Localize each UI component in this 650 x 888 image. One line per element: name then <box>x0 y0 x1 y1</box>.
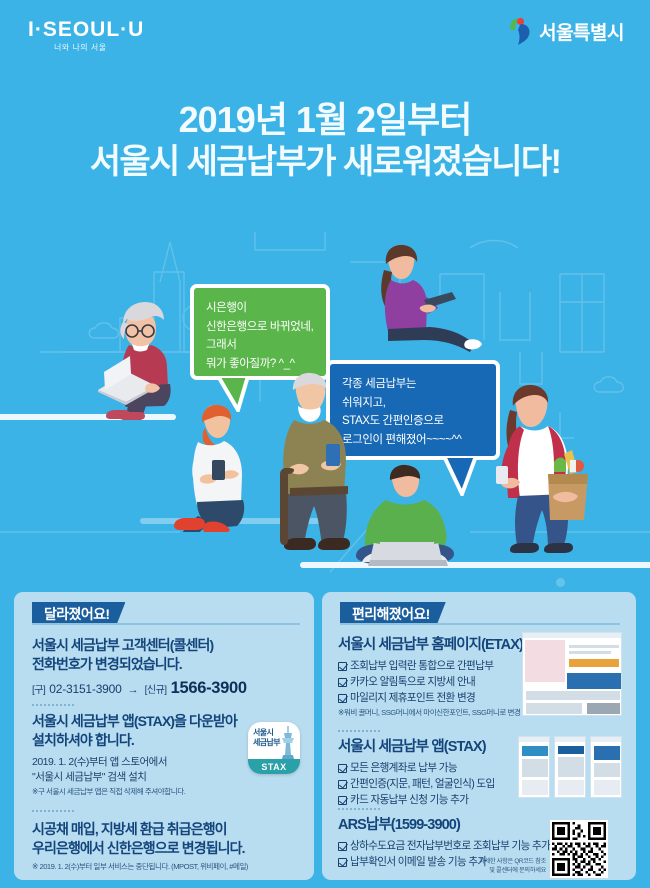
etax-item: 조회납부 입력란 통합으로 간편납부 <box>338 660 493 673</box>
stax-item: 카드 자동납부 신청 기능 추가 <box>338 794 468 807</box>
qr-code-graphic <box>552 822 606 876</box>
screenshot-iconbar <box>567 673 621 689</box>
stax-app-icon-label: 서울시 세금납부 <box>253 728 280 748</box>
check-icon <box>338 662 347 671</box>
poster-root: I·SEOUL·U 너와 나의 서울 서울특별시 2019년 1월 2일부터 서… <box>0 0 650 888</box>
screenshot-block <box>558 746 584 754</box>
screenshot-block <box>522 780 548 795</box>
callcenter-phone-row: [구] 02-3151-3900 → [신규] 1566-3900 <box>32 679 247 698</box>
illustration-stage: 시은행이 신한은행으로 바뀌었네, 그래서 뭐가 좋아질까? ^_^ 각종 세금… <box>0 232 650 590</box>
new-number-tag: [신규] <box>145 681 167 696</box>
check-icon <box>338 858 347 867</box>
person-woman-groceries <box>486 382 596 564</box>
stax-phone-screenshot <box>554 736 586 798</box>
seoul-emblem-icon <box>507 16 533 46</box>
person-man-laptop <box>348 464 466 572</box>
stax-item-label: 카드 자동납부 신청 기능 추가 <box>350 794 468 807</box>
stax-install-body: 2019. 1. 2(수)부터 앱 스토어에서 "서울시 세금납부" 검색 설치 <box>32 755 242 785</box>
etax-item: 마일리지 제휴포인트 전환 변경 <box>338 692 475 705</box>
person-man-phone <box>168 402 272 532</box>
divider <box>338 808 380 810</box>
old-number: 02-3151-3900 <box>49 682 121 696</box>
etax-item-label: 조회납부 입력란 통합으로 간편납부 <box>350 660 493 673</box>
i-seoul-u-logo: I·SEOUL·U <box>28 18 144 42</box>
etax-item-label: 카카오 알림톡으로 지방세 안내 <box>350 676 475 689</box>
info-panels: 달라졌어요! 서울시 세금납부 고객센터(콜센터) 전화번호가 변경되었습니다.… <box>0 592 650 888</box>
seoul-gov-logo: 서울특별시 <box>507 16 624 46</box>
divider <box>338 730 380 732</box>
bank-change-heading: 시공채 매입, 지방세 환급 취급은행이 우리은행에서 신한은행으로 변경됩니다… <box>32 820 304 858</box>
title-line-1: 2019년 1월 2일부터 <box>0 100 650 140</box>
stax-app-icon-band: STAX <box>248 759 300 774</box>
callcenter-heading: 서울시 세금납부 고객센터(콜센터) 전화번호가 변경되었습니다. <box>32 636 302 674</box>
stax-item-label: 간편인증(지문, 패턴, 얼굴인식) 도입 <box>350 778 495 791</box>
screenshot-block <box>558 757 584 777</box>
check-icon <box>338 694 347 703</box>
page-title: 2019년 1월 2일부터 서울시 세금납부가 새로워졌습니다! <box>0 100 650 185</box>
screenshot-block <box>558 780 584 795</box>
etax-website-screenshot <box>522 632 622 716</box>
ribbon-rule <box>32 623 300 625</box>
qr-note: 자세한 사항은 QR코드 참조 및 콜센터에 문의하세요 <box>442 858 546 876</box>
screenshot-block <box>594 780 620 795</box>
n-seoul-tower-icon <box>279 725 297 759</box>
stax-item-label: 모든 은행계좌로 납부 가능 <box>350 762 457 775</box>
poster-header: I·SEOUL·U 너와 나의 서울 서울특별시 <box>0 0 650 62</box>
stax-app-icon[interactable]: 서울시 세금납부 STAX <box>248 722 300 774</box>
panel-convenient-ribbon: 편리해졌어요! <box>340 602 446 625</box>
screenshot-topbar <box>591 737 621 742</box>
check-icon <box>338 842 347 851</box>
screenshot-footer <box>587 703 620 714</box>
ribbon-rule <box>340 623 620 625</box>
stax-item: 간편인증(지문, 패턴, 얼굴인식) 도입 <box>338 778 495 791</box>
new-number: 1566-3900 <box>171 679 247 698</box>
etax-item: 카카오 알림톡으로 지방세 안내 <box>338 676 475 689</box>
check-icon <box>338 780 347 789</box>
old-number-tag: [구] <box>32 681 45 696</box>
screenshot-block <box>594 763 620 777</box>
screenshot-footer <box>526 703 582 714</box>
title-line-2: 서울시 세금납부가 새로워졌습니다! <box>0 140 650 184</box>
divider <box>32 810 74 812</box>
arrow-icon: → <box>126 684 141 696</box>
bank-change-note: ※ 2019. 1. 2(수)부터 일부 서비스는 중단됩니다. (MPOST,… <box>32 862 310 873</box>
screenshot-search <box>569 659 619 667</box>
screenshot-block <box>594 746 620 760</box>
screenshot-topbar <box>555 737 585 742</box>
speech-bubble-green: 시은행이 신한은행으로 바뀌었네, 그래서 뭐가 좋아질까? ^_^ <box>190 284 330 380</box>
screenshot-iconrow <box>526 691 620 700</box>
screenshot-topbar <box>519 737 549 742</box>
screenshot-line <box>569 651 611 654</box>
check-icon <box>338 678 347 687</box>
ars-item-label: 상하수도요금 전자납부번호로 조회납부 기능 추가 <box>350 840 550 853</box>
screenshot-block <box>522 746 548 756</box>
panel-changed-ribbon: 달라졌어요! <box>32 602 125 625</box>
qr-code[interactable] <box>550 820 608 878</box>
stax-phone-screenshot <box>518 736 550 798</box>
panel-changed: 달라졌어요! 서울시 세금납부 고객센터(콜센터) 전화번호가 변경되었습니다.… <box>14 592 314 880</box>
etax-item-label: 마일리지 제휴포인트 전환 변경 <box>350 692 475 705</box>
stax-install-heading: 서울시 세금납부 앱(STAX)을 다운받아 설치하셔야 합니다. <box>32 712 250 750</box>
screenshot-block <box>522 759 548 777</box>
person-elderly-man-cane <box>262 370 358 560</box>
check-icon <box>338 796 347 805</box>
person-woman-tablet <box>362 244 482 352</box>
ars-item: 상하수도요금 전자납부번호로 조회납부 기능 추가 <box>338 840 550 853</box>
divider <box>32 704 74 706</box>
check-icon <box>338 764 347 773</box>
screenshot-topbar <box>523 633 621 638</box>
screenshot-line <box>569 645 619 648</box>
gov-name-label: 서울특별시 <box>539 18 624 45</box>
panel-convenient: 편리해졌어요! 서울시 세금납부 홈페이지(ETAX) 조회납부 입력란 통합으… <box>322 592 636 880</box>
stax-install-note: ※구 서울시 세금납부 앱은 직접 삭제해 주셔야합니다. <box>32 787 262 798</box>
screenshot-hero <box>525 640 565 682</box>
decor-dot <box>556 578 565 587</box>
brand-tagline: 너와 나의 서울 <box>54 42 107 53</box>
stax-item: 모든 은행계좌로 납부 가능 <box>338 762 457 775</box>
stax-phone-screenshot <box>590 736 622 798</box>
